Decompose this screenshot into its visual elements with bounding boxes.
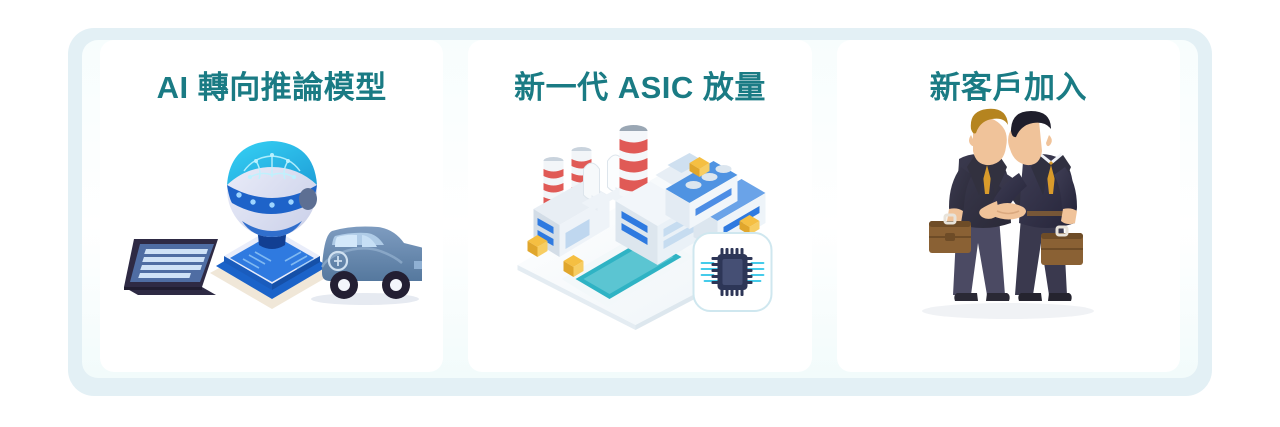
- card-title-ai-inference: AI 轉向推論模型: [157, 72, 387, 103]
- card-asic-volume[interactable]: 新一代 ASIC 放量: [468, 40, 811, 372]
- microchip-icon: [693, 233, 771, 311]
- ai-robot-head-laptop-car-illustration: [122, 121, 422, 321]
- card-ai-inference[interactable]: AI 轉向推論模型: [100, 40, 443, 372]
- card-new-customers[interactable]: 新客戶加入: [837, 40, 1180, 372]
- illustration-asic-volume: [468, 103, 811, 372]
- business-handshake-illustration: [893, 107, 1123, 337]
- autonomous-car-icon: [311, 227, 422, 306]
- card-title-new-customers: 新客戶加入: [930, 72, 1088, 103]
- card-title-asic-volume: 新一代 ASIC 放量: [514, 72, 766, 103]
- illustration-new-customers: [837, 103, 1180, 372]
- semiconductor-factory-illustration: [497, 117, 782, 332]
- screenshot-root: AI 轉向推論模型: [0, 0, 1280, 427]
- laptop-icon: [124, 239, 218, 295]
- illustration-ai-inference: [100, 103, 443, 372]
- cards-row: AI 轉向推論模型: [100, 40, 1180, 372]
- robot-head-icon: [227, 141, 317, 237]
